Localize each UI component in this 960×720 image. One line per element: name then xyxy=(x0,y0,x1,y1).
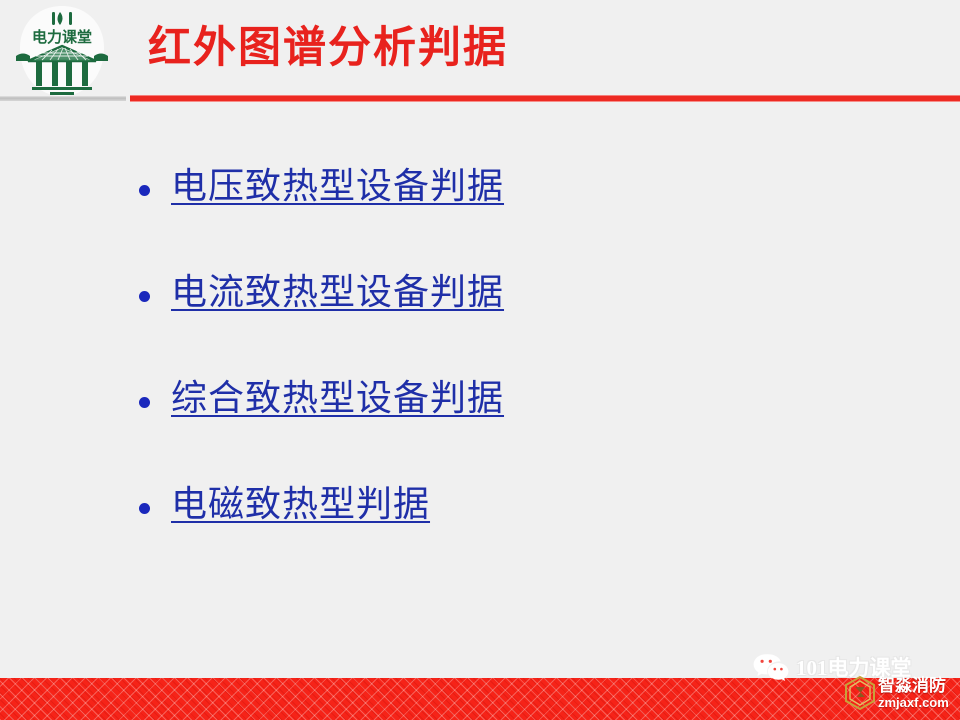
header-divider-gray xyxy=(0,96,126,101)
footer-red-band xyxy=(0,678,960,720)
zhimiao-watermark: 智淼消防 zmjaxf.com xyxy=(845,676,949,710)
list-item[interactable]: 综合致热型设备判据 xyxy=(0,372,960,478)
slide-header: 电力课堂 xyxy=(0,0,960,108)
zhimiao-url: zmjaxf.com xyxy=(878,696,949,709)
bullet-list: 电压致热型设备判据 电流致热型设备判据 综合致热型设备判据 电磁致热型判据 xyxy=(0,160,960,584)
list-item[interactable]: 电磁致热型判据 xyxy=(0,478,960,584)
bullet-dot-icon xyxy=(139,397,150,408)
bullet-link-current[interactable]: 电流致热型设备判据 xyxy=(171,270,504,314)
zhimiao-brand-name: 智淼消防 xyxy=(878,677,949,694)
list-item[interactable]: 电压致热型设备判据 xyxy=(0,160,960,266)
bullet-link-electromagnetic[interactable]: 电磁致热型判据 xyxy=(171,482,430,526)
bullet-dot-icon xyxy=(139,291,150,302)
wechat-icon xyxy=(752,652,790,684)
school-emblem-logo: 电力课堂 xyxy=(8,4,116,100)
bullet-dot-icon xyxy=(139,185,150,196)
svg-text:电力课堂: 电力课堂 xyxy=(32,28,92,46)
bullet-dot-icon xyxy=(139,503,150,514)
presentation-slide: 电力课堂 xyxy=(0,0,960,720)
list-item[interactable]: 电流致热型设备判据 xyxy=(0,266,960,372)
slide-title: 红外图谱分析判据 xyxy=(148,27,508,70)
bullet-link-composite[interactable]: 综合致热型设备判据 xyxy=(171,376,504,420)
header-divider-red xyxy=(130,95,960,102)
zhimiao-logo-icon xyxy=(845,676,875,710)
bullet-link-voltage[interactable]: 电压致热型设备判据 xyxy=(171,164,504,208)
